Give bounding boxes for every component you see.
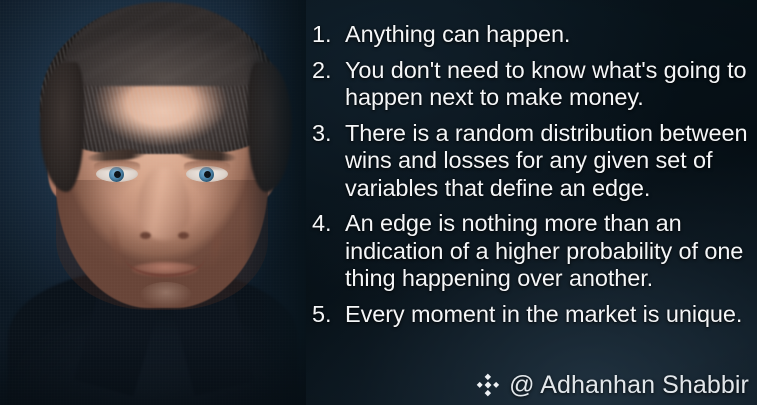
list-item-text: There is a random distribution between w… <box>345 120 754 203</box>
forehead-highlight <box>104 84 222 138</box>
list-item-number: 1. <box>312 21 345 49</box>
quote-card: 1. Anything can happen. 2. You don't nee… <box>0 0 757 405</box>
hair-side-right <box>248 62 292 192</box>
nose-shape <box>138 168 190 240</box>
list-item-text: Anything can happen. <box>345 21 754 49</box>
hair-side-left <box>40 62 84 192</box>
pupil-right <box>204 171 211 178</box>
list-item: 1. Anything can happen. <box>312 21 754 49</box>
list-item: 2. You don't need to know what's going t… <box>312 57 754 112</box>
nostril-right <box>178 232 189 239</box>
list-item-number: 5. <box>312 301 345 329</box>
watermark: @ Adhanhan Shabbir <box>475 371 749 399</box>
eyelid-right <box>184 160 230 170</box>
list-item-text: Every moment in the market is unique. <box>345 301 754 329</box>
portrait-photo <box>0 0 306 405</box>
list-item: 4. An edge is nothing more than an indic… <box>312 210 754 293</box>
list-item-number: 2. <box>312 57 345 85</box>
quote-list: 1. Anything can happen. 2. You don't nee… <box>312 21 754 336</box>
chin-highlight <box>140 282 192 308</box>
pupil-left <box>114 171 121 178</box>
list-item: 5. Every moment in the market is unique. <box>312 301 754 329</box>
eyelid-left <box>94 160 140 170</box>
watermark-handle: @ Adhanhan Shabbir <box>509 371 749 399</box>
list-item-text: You don't need to know what's going to h… <box>345 57 754 112</box>
list-item-text: An edge is nothing more than an indicati… <box>345 210 754 293</box>
nostril-left <box>140 232 151 239</box>
diamond-cluster-icon <box>475 372 501 398</box>
list-item-number: 3. <box>312 120 345 148</box>
hair-top <box>62 2 262 86</box>
list-item-number: 4. <box>312 210 345 238</box>
list-item: 3. There is a random distribution betwee… <box>312 120 754 203</box>
